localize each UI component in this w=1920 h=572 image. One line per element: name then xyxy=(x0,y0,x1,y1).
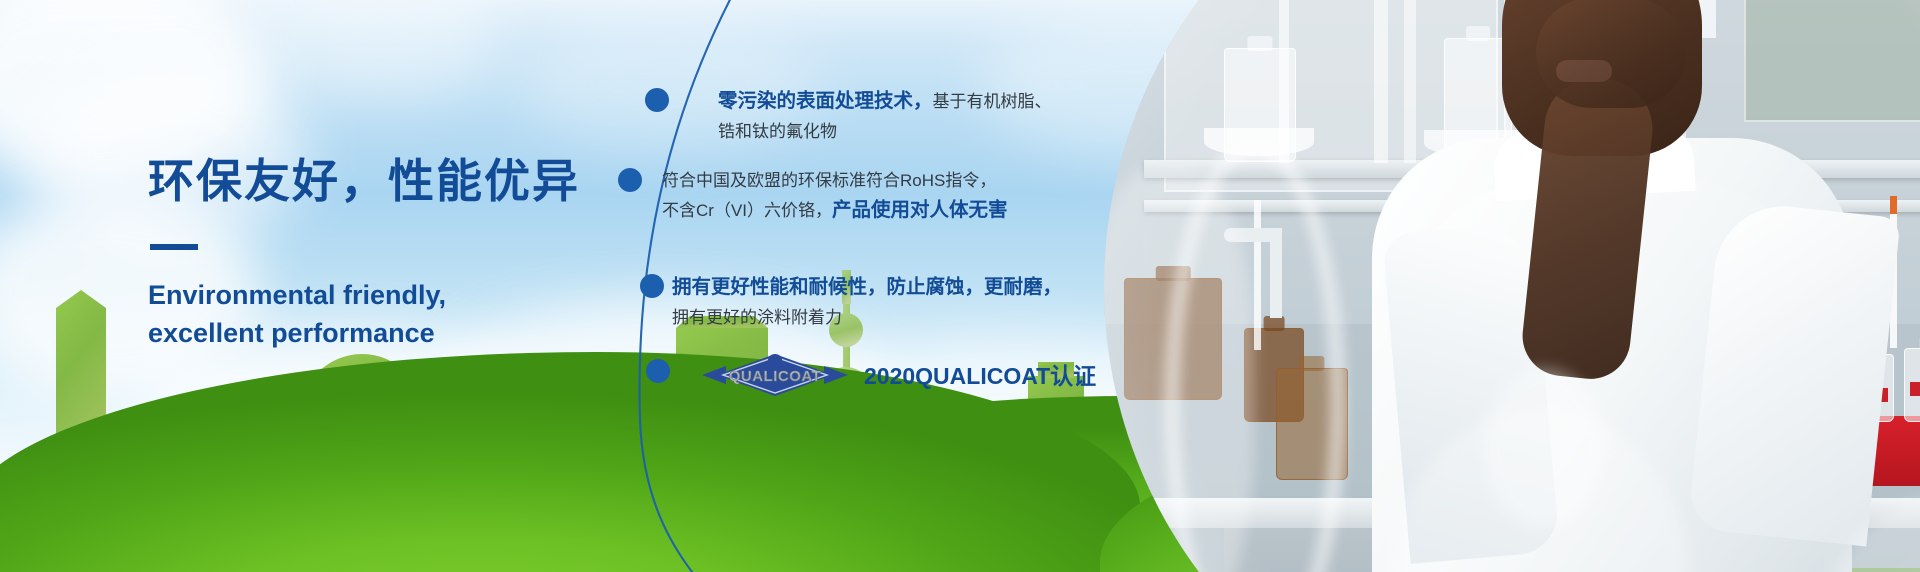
feature-performance-weathering: 拥有更好性能和耐候性，防止腐蚀，更耐磨， 拥有更好的涂料附着力 xyxy=(672,272,1062,331)
headline-block: 环保友好，性能优异 Environmental friendly, excell… xyxy=(148,155,668,353)
certification-badge: QUALICOAT 2020QUALICOAT认证 xyxy=(700,352,1096,396)
feature-line: 不含Cr（VI）六价铬，产品使用对人体无害 xyxy=(662,195,1008,227)
feature-line: 拥有更好的涂料附着力 xyxy=(672,304,1062,332)
qualicoat-logo-icon: QUALICOAT xyxy=(700,352,850,396)
subtitle-line-1: Environmental friendly, xyxy=(148,276,668,314)
page-title: 环保友好，性能优异 xyxy=(148,155,668,208)
feature-line: 符合中国及欧盟的环保标准符合RoHS指令， xyxy=(662,167,1008,195)
feature-line: 拥有更好性能和耐候性，防止腐蚀，更耐磨， xyxy=(672,272,1062,304)
laboratory-scientist-photo xyxy=(1104,0,1920,572)
bullet-node-4 xyxy=(646,359,670,383)
feature-normal-text: 基于有机树脂、 xyxy=(933,92,1052,111)
subtitle-line-2: excellent performance xyxy=(148,314,668,352)
svg-text:QUALICOAT: QUALICOAT xyxy=(729,368,822,385)
eco-performance-banner: 环保友好，性能优异 Environmental friendly, excell… xyxy=(0,0,1920,572)
certification-label: 2020QUALICOAT认证 xyxy=(864,357,1096,391)
feature-zero-pollution: 零污染的表面处理技术，基于有机树脂、 锆和钛的氟化物 xyxy=(718,86,1052,145)
bullet-node-1 xyxy=(645,88,669,112)
feature-strong-text: 产品使用对人体无害 xyxy=(832,199,1008,221)
feature-rohs-compliance: 符合中国及欧盟的环保标准符合RoHS指令， 不含Cr（VI）六价铬，产品使用对人… xyxy=(662,167,1008,226)
feature-normal-text: 符合中国及欧盟的环保标准符合RoHS指令， xyxy=(662,171,996,190)
feature-normal-text: 不含Cr（VI）六价铬， xyxy=(662,201,832,220)
feature-strong-text: 拥有更好性能和耐候性，防止腐蚀，更耐磨， xyxy=(672,276,1062,298)
feature-line: 锆和钛的氟化物 xyxy=(718,118,1052,146)
title-divider xyxy=(150,244,198,250)
feature-strong-text: 零污染的表面处理技术， xyxy=(718,90,933,112)
feature-normal-text: 锆和钛的氟化物 xyxy=(718,122,837,141)
subtitle: Environmental friendly, excellent perfor… xyxy=(148,276,668,353)
feature-normal-text: 拥有更好的涂料附着力 xyxy=(672,308,842,327)
feature-line: 零污染的表面处理技术，基于有机树脂、 xyxy=(718,86,1052,118)
